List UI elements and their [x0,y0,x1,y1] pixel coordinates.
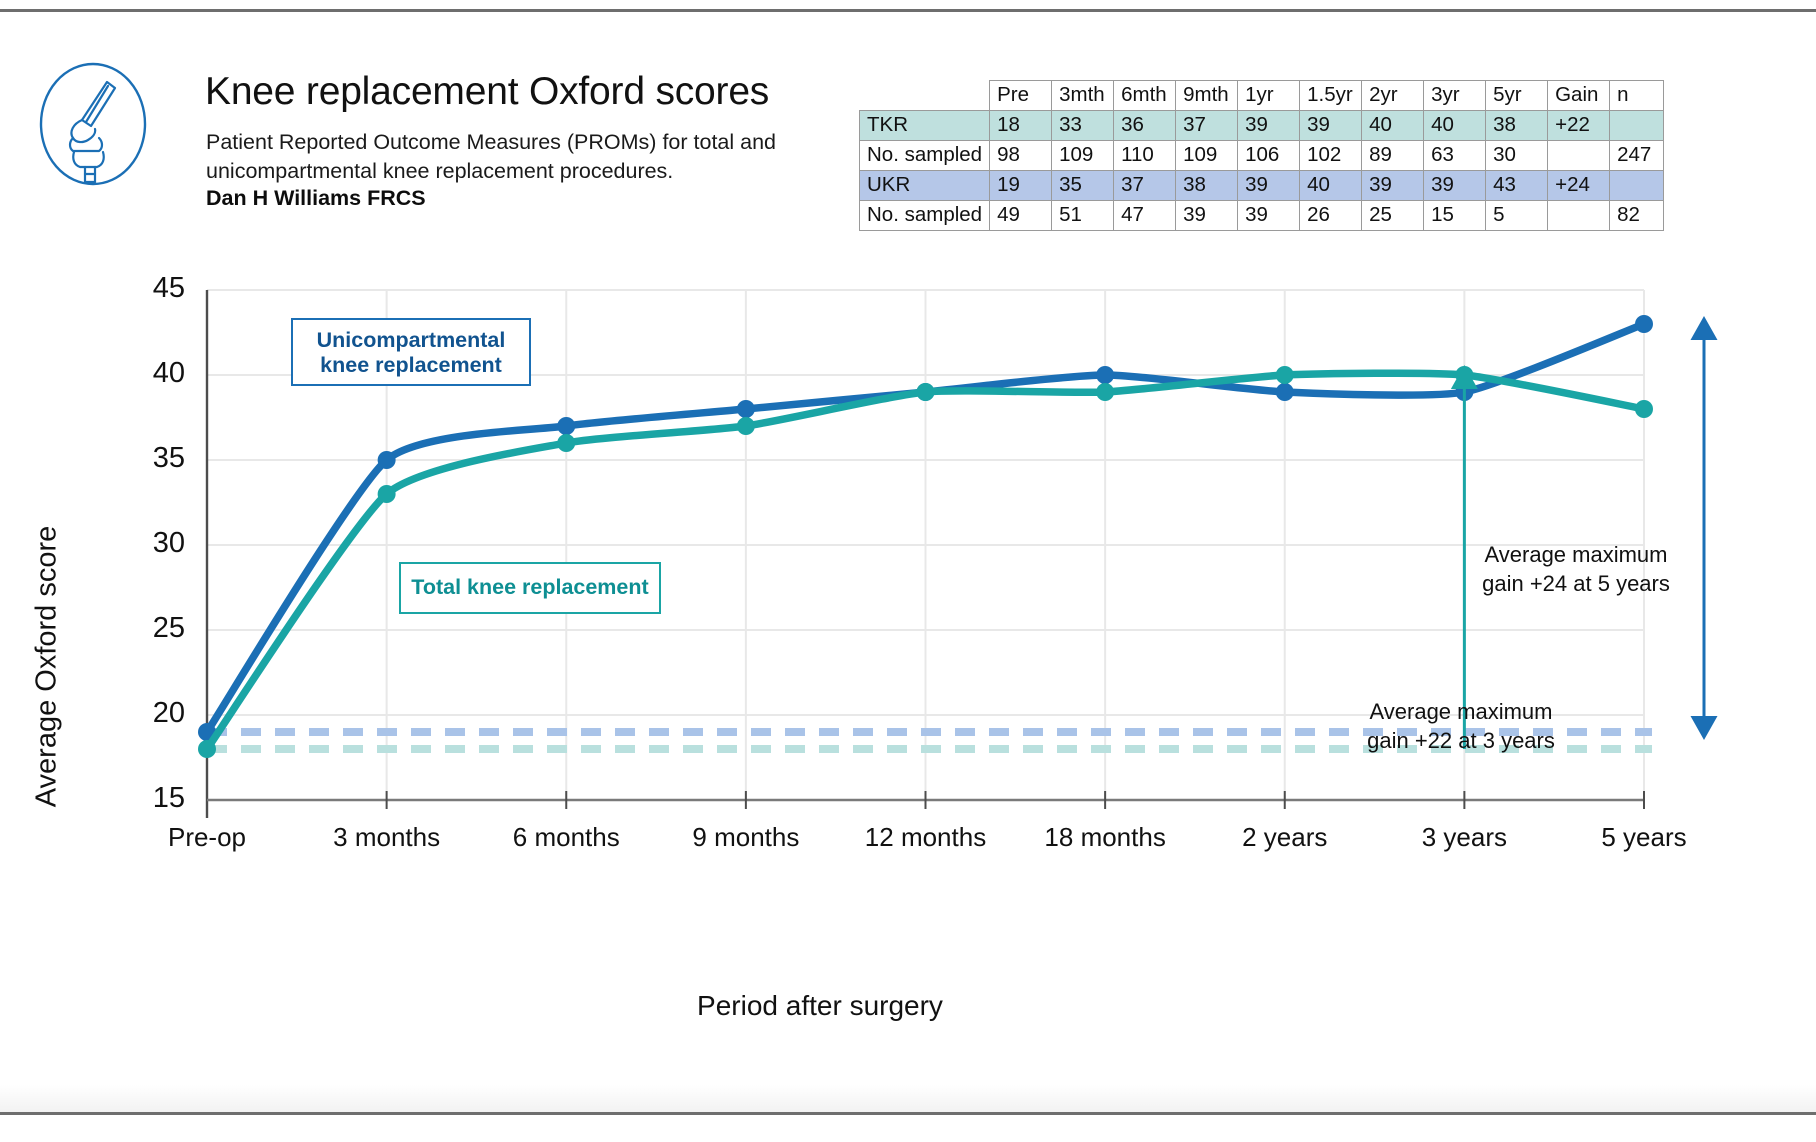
table-cell: 38 [1176,171,1238,201]
table-header-9mth: 9mth [1176,81,1238,111]
table-cell: 63 [1424,141,1486,171]
knee-joint-icon [33,60,153,188]
summary-table-wrapper: Pre 3mth 6mth 9mth 1yr 1.5yr 2yr 3yr 5yr… [859,80,1664,231]
table-cell: 109 [1176,141,1238,171]
table-cell: 35 [1052,171,1114,201]
table-row: UKR 19 35 37 38 39 40 39 39 43 +24 [860,171,1664,201]
slide-bottom-border [0,1112,1816,1115]
line-chart: Average Oxford score Period after surger… [0,220,1816,1080]
x-axis-tick-9-months: 9 months [692,822,799,853]
x-axis-tick-5-years: 5 years [1601,822,1686,853]
table-header-6mth: 6mth [1114,81,1176,111]
table-cell: 39 [1362,171,1424,201]
table-cell: 36 [1114,111,1176,141]
table-cell: 33 [1052,111,1114,141]
table-cell: 39 [1238,111,1300,141]
author-name: Dan H Williams FRCS [206,186,426,211]
table-cell: 40 [1362,111,1424,141]
table-cell: 110 [1114,141,1176,171]
table-header-2yr: 2yr [1362,81,1424,111]
legend-ukr-line2: knee replacement [293,353,529,378]
table-cell: 43 [1486,171,1548,201]
annotation-3-year-line1: Average maximum [1367,697,1555,726]
table-cell: 19 [990,171,1052,201]
page-subtitle: Patient Reported Outcome Measures (PROMs… [206,128,806,185]
annotation-3-year-gain: Average maximum gain +22 at 3 years [1367,697,1555,755]
annotation-5-year-gain: Average maximum gain +24 at 5 years [1482,540,1670,598]
table-row: TKR 18 33 36 37 39 39 40 40 38 +22 [860,111,1664,141]
table-header-n: n [1610,81,1664,111]
x-axis-tick-2-years: 2 years [1242,822,1327,853]
legend-tkr: Total knee replacement [399,562,661,614]
slide-canvas: Knee replacement Oxford scores Patient R… [0,0,1816,1142]
table-cell: 37 [1176,111,1238,141]
x-axis-tick-3-years: 3 years [1422,822,1507,853]
table-cell: 37 [1114,171,1176,201]
plot-area [0,220,1816,1010]
table-cell: 39 [1300,111,1362,141]
annotation-5-year-line2: gain +24 at 5 years [1482,569,1670,598]
table-cell: 40 [1300,171,1362,201]
page-title: Knee replacement Oxford scores [205,70,769,114]
table-cell: 38 [1486,111,1548,141]
table-header-row: Pre 3mth 6mth 9mth 1yr 1.5yr 2yr 3yr 5yr… [860,81,1664,111]
table-row-label: TKR [860,111,990,141]
table-cell-gain: +22 [1548,111,1610,141]
slide-top-border [0,9,1816,12]
summary-table: Pre 3mth 6mth 9mth 1yr 1.5yr 2yr 3yr 5yr… [859,80,1664,231]
table-cell-n: 247 [1610,141,1664,171]
table-header-corner [860,81,990,111]
table-cell: 39 [1238,171,1300,201]
table-header-1-5yr: 1.5yr [1300,81,1362,111]
table-header-1yr: 1yr [1238,81,1300,111]
table-cell-gain: +24 [1548,171,1610,201]
table-cell: 89 [1362,141,1424,171]
table-header-3mth: 3mth [1052,81,1114,111]
table-header-3yr: 3yr [1424,81,1486,111]
annotation-5-year-line1: Average maximum [1482,540,1670,569]
table-cell-n [1610,111,1664,141]
table-row-label: No. sampled [860,141,990,171]
x-axis-tick-12-months: 12 months [865,822,986,853]
table-cell: 39 [1424,171,1486,201]
table-header-5yr: 5yr [1486,81,1548,111]
table-cell-gain [1548,141,1610,171]
legend-ukr: Unicompartmental knee replacement [291,318,531,386]
x-axis-tick-3-months: 3 months [333,822,440,853]
table-cell: 40 [1424,111,1486,141]
table-cell: 102 [1300,141,1362,171]
x-axis-tick-18-months: 18 months [1044,822,1165,853]
table-cell: 98 [990,141,1052,171]
table-cell: 18 [990,111,1052,141]
table-header-pre: Pre [990,81,1052,111]
x-axis-tick-6-months: 6 months [513,822,620,853]
x-axis-tick-pre-op: Pre-op [168,822,246,853]
table-row-label: UKR [860,171,990,201]
slide-footer-band [0,1085,1816,1112]
table-cell: 30 [1486,141,1548,171]
table-cell-n [1610,171,1664,201]
annotation-3-year-line2: gain +22 at 3 years [1367,726,1555,755]
table-cell: 106 [1238,141,1300,171]
table-header-gain: Gain [1548,81,1610,111]
table-row: No. sampled 98 109 110 109 106 102 89 63… [860,141,1664,171]
legend-ukr-line1: Unicompartmental [293,328,529,353]
table-cell: 109 [1052,141,1114,171]
